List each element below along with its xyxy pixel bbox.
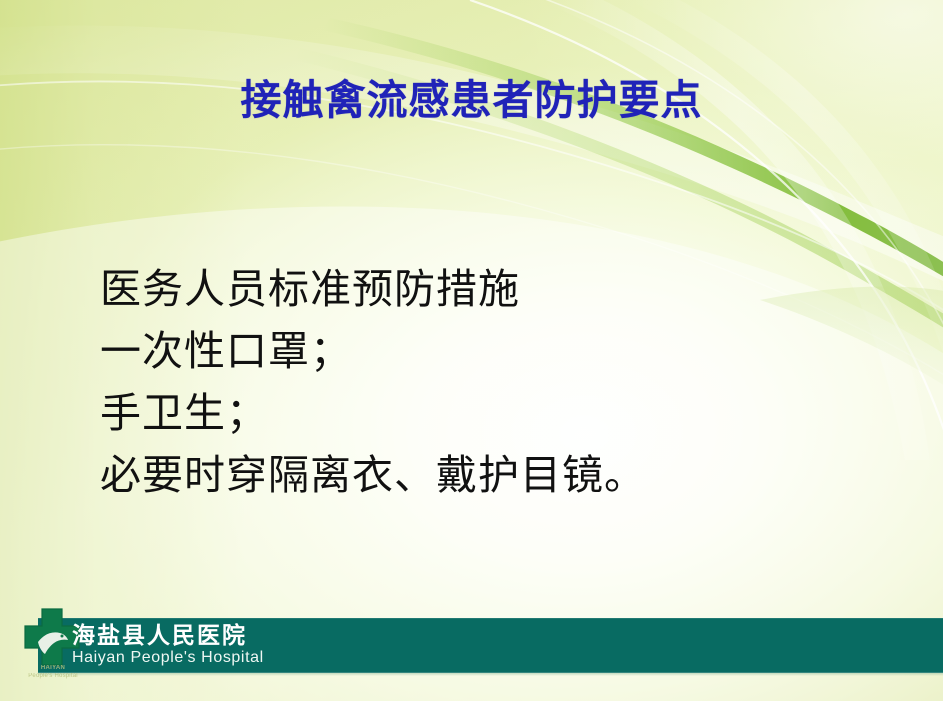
hospital-name-english: Haiyan People's Hospital — [72, 648, 264, 667]
footer-bar-underline — [38, 673, 943, 676]
hospital-name-chinese: 海盐县人民医院 — [72, 622, 264, 648]
logo-subtext-english: People's Hospital — [26, 673, 80, 680]
slide-footer: HAIYAN People's Hospital 海盐县人民医院 Haiyan … — [0, 600, 943, 701]
body-line: 医务人员标准预防措施 — [100, 258, 860, 320]
body-line: 必要时穿隔离衣、戴护目镜。 — [100, 444, 860, 506]
presentation-slide: 接触禽流感患者防护要点 医务人员标准预防措施 一次性口罩； 手卫生； 必要时穿隔… — [0, 0, 943, 701]
body-line: 手卫生； — [100, 382, 860, 444]
slide-body: 医务人员标准预防措施 一次性口罩； 手卫生； 必要时穿隔离衣、戴护目镜。 — [100, 258, 860, 506]
slide-title: 接触禽流感患者防护要点 — [0, 78, 943, 123]
body-line: 一次性口罩； — [100, 320, 860, 382]
hospital-name-block: 海盐县人民医院 Haiyan People's Hospital — [72, 622, 264, 667]
